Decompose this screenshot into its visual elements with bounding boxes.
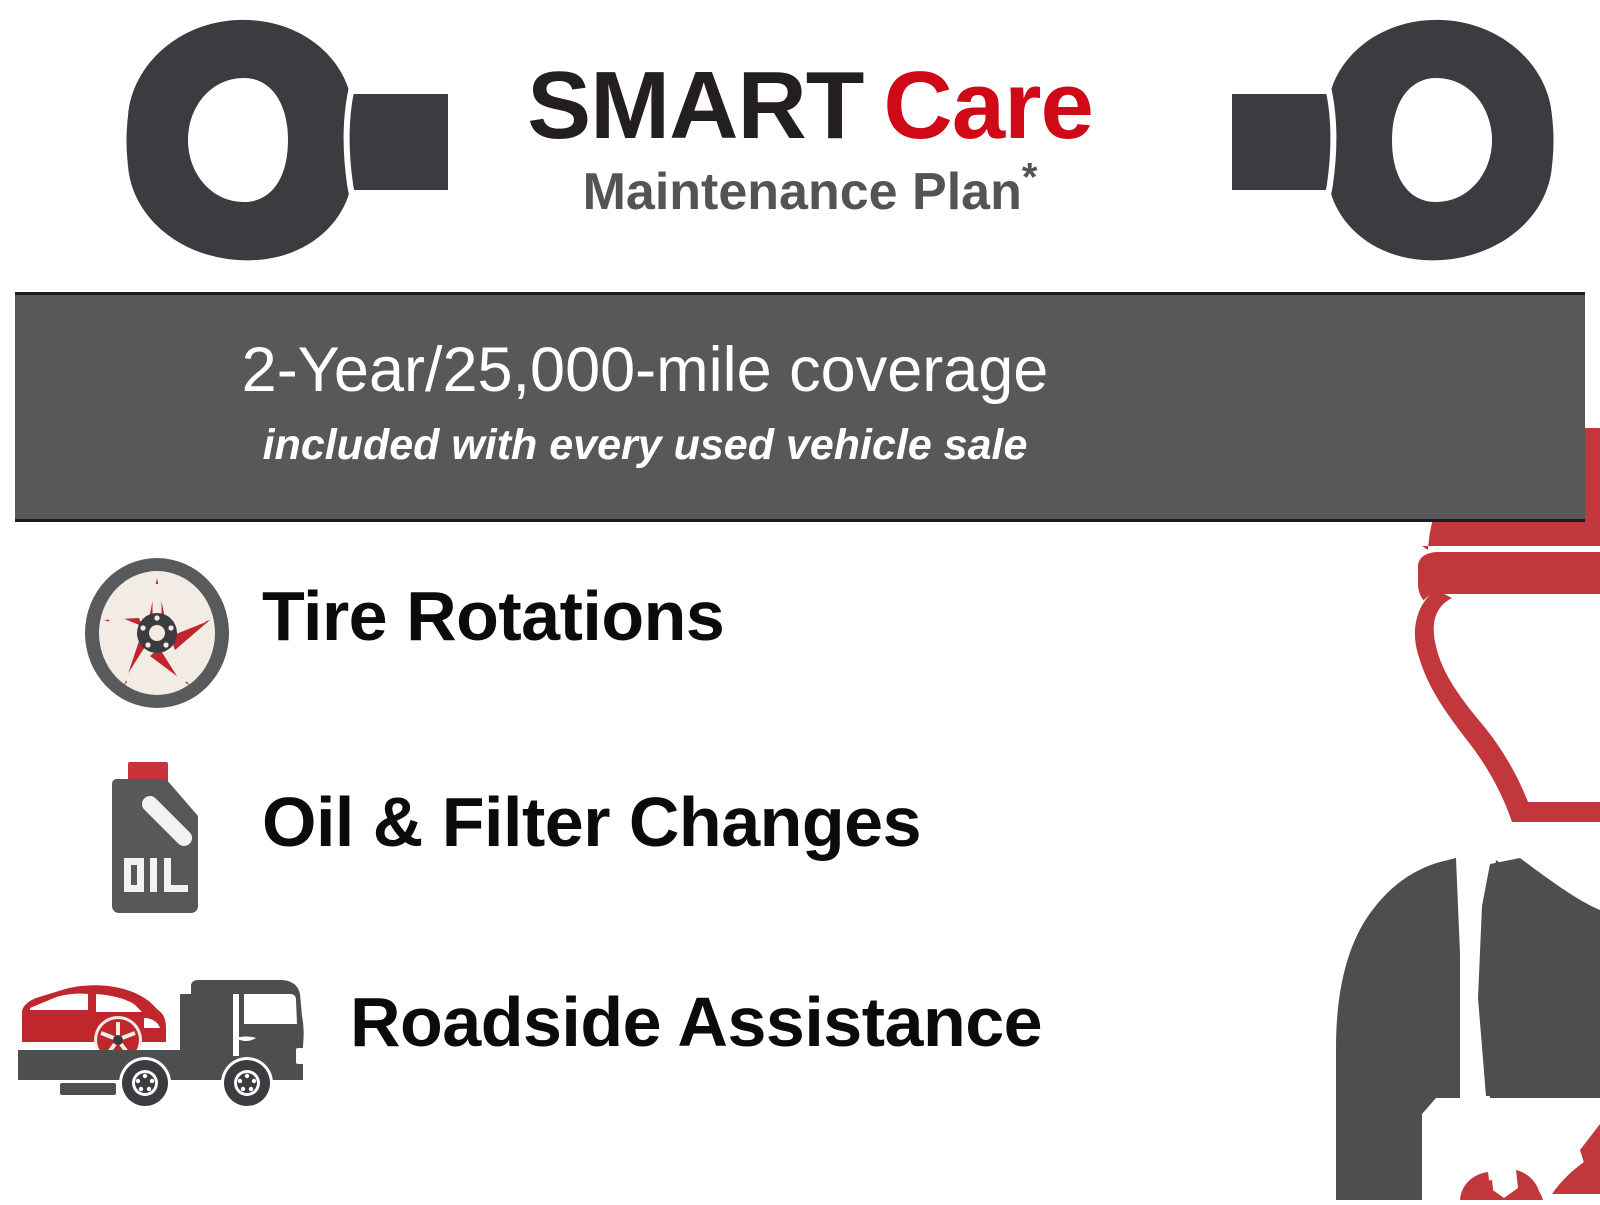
logo-subtitle-line: Maintenance Plan* [400,162,1220,222]
logo-care-text: Care [883,52,1092,159]
logo-asterisk: * [1022,156,1038,200]
feature-label-roadside-assistance: Roadside Assistance [350,982,1042,1062]
tow-truck-icon [8,950,338,1110]
tire-icon [82,558,232,708]
feature-item-oil-filter-changes: Oil & Filter Changes [0,740,1200,940]
feature-item-tire-rotations: Tire Rotations [0,540,1200,740]
coverage-headline: 2-Year/25,000-mile coverage [15,331,1275,409]
brand-wordmark: SMARTCare Maintenance Plan* [400,52,1220,222]
feature-label-oil-filter-changes: Oil & Filter Changes [262,782,921,862]
wrench-left-icon [118,8,448,270]
feature-item-roadside-assistance: Roadside Assistance [0,940,1200,1140]
feature-list: Tire Rotations Oil & Filter Changes [0,540,1200,1140]
logo-subtitle-text: Maintenance Plan [583,163,1022,221]
wrench-right-icon [1232,8,1562,270]
oil-bottle-icon [98,760,220,920]
feature-label-tire-rotations: Tire Rotations [262,576,724,656]
header-logo-area: SMARTCare Maintenance Plan* [0,0,1600,278]
logo-title-line: SMARTCare [400,52,1220,160]
logo-smart-text: SMART [527,52,863,159]
coverage-banner-content: 2-Year/25,000-mile coverage included wit… [15,295,1275,473]
coverage-banner: 2-Year/25,000-mile coverage included wit… [15,292,1585,522]
coverage-subhead: included with every used vehicle sale [15,417,1275,473]
